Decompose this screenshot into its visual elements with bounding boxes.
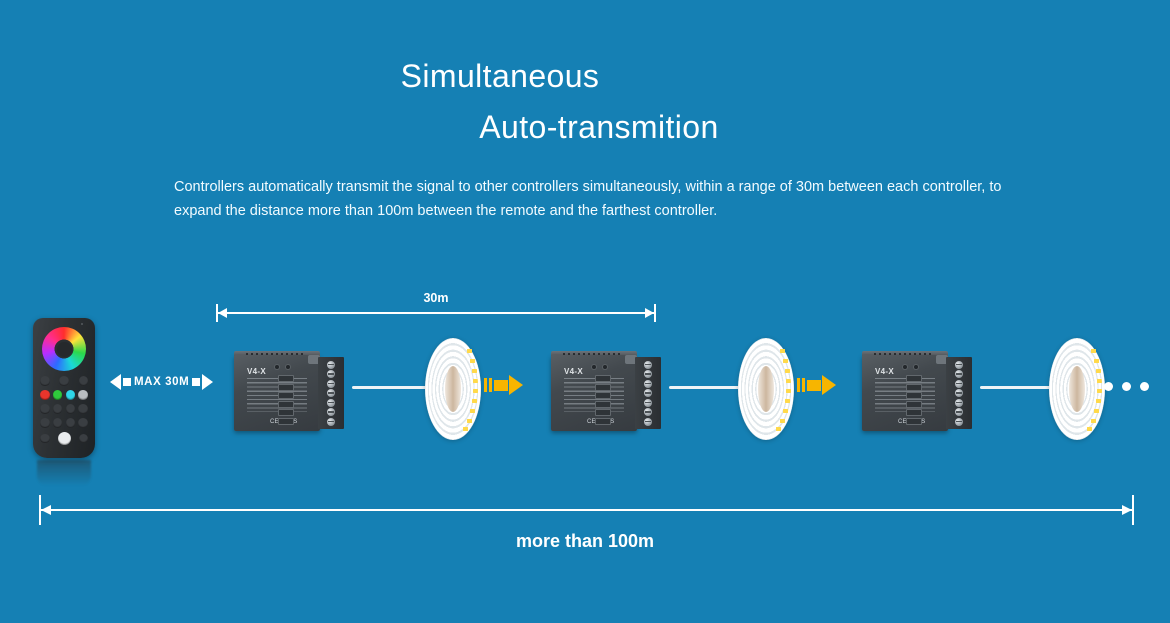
led-icon [592,365,596,369]
dip-switch [906,401,922,408]
led-chip [472,399,477,403]
dip-switch [595,401,611,408]
remote-indicator-led-icon [81,323,83,325]
dip-switch [595,375,611,382]
led-strip-reel-2 [738,338,794,440]
total-dimension-line [39,509,1134,511]
controller-terminal-block [635,357,661,429]
controller-device-2: V4-X CE RoHS [545,351,663,435]
terminal-screw [644,361,652,369]
terminal-screw [327,399,335,407]
led-strip-reel-3 [1049,338,1105,440]
dip-switch [278,409,294,416]
terminal-screw [955,370,963,378]
controller-indicator-leds [903,365,918,369]
remote-keypad [40,376,88,450]
keypad-row [40,404,88,414]
arrow-right-bar [192,378,200,386]
remote-range-label: MAX 30M [133,376,190,388]
led-chip [1097,379,1102,383]
terminal-screw [327,380,335,388]
led-chip [1094,359,1099,363]
remote-key [40,376,50,386]
controller-dip-switches [278,375,294,425]
remote-control [33,318,95,458]
arrow-left-icon [218,308,227,318]
controller-terminal-block [318,357,344,429]
controller-model-label: V4-X [247,367,266,376]
dip-switch [595,409,611,416]
remote-key [59,376,69,386]
reel-led-chips [458,345,478,433]
arrow-right-icon [1122,505,1132,515]
led-chip [780,349,785,353]
dip-switch [278,401,294,408]
arrow-tick [489,378,492,392]
terminal-screw [955,389,963,397]
led-chip [1096,369,1101,373]
remote-key [53,404,63,414]
remote-key [40,404,50,414]
remote-key [40,434,50,444]
led-chip [473,379,478,383]
arrow-tick [802,378,805,392]
arrow-left-icon [41,505,51,515]
cable-1 [352,386,436,389]
controller-spec-print [875,378,935,412]
terminal-screw [955,380,963,388]
terminal-screw [644,370,652,378]
remote-key [78,404,88,414]
controller-device-3: V4-X CE RoHS [856,351,974,435]
led-strip-reel-1 [425,338,481,440]
reel-led-chips [771,345,791,433]
led-chip [783,409,788,413]
arrow-left-bar [123,378,131,386]
arrow-right-icon [645,308,654,318]
dip-switch [906,375,922,382]
dip-switch [278,375,294,382]
remote-key-red [40,390,50,400]
controller-dip-switches [906,375,922,425]
remote-key [66,404,76,414]
remote-key-cyan [66,390,76,400]
dip-switch [595,384,611,391]
remote-key [40,418,50,428]
dimension-cap-right [1132,495,1134,525]
description-text: Controllers automatically transmit the s… [174,175,1014,223]
remote-key-power [58,432,71,445]
keypad-row [40,376,88,386]
terminal-screw [955,418,963,426]
led-chip [1096,399,1101,403]
dimension-rule [39,509,1134,511]
ellipsis-dot [1104,382,1113,391]
controller-device-1: V4-X CE RoHS [228,351,346,435]
controller-dip-switches [595,375,611,425]
led-chip [1087,427,1092,431]
terminal-screw [644,408,652,416]
led-chip [1097,389,1102,393]
dip-switch [906,409,922,416]
remote-key-green [53,390,63,400]
slide-canvas: Simultaneous Auto-transmition Controller… [0,0,1170,623]
dimension-cap-right [654,304,656,322]
remote-key [78,418,88,428]
terminal-screw [327,418,335,426]
signal-transmit-arrow-2 [797,375,836,395]
controller-terminal-block [946,357,972,429]
controller-spec-print [247,378,307,412]
controller-body: V4-X CE RoHS [551,355,637,431]
remote-key-white [78,390,88,400]
dip-switch [906,384,922,391]
controller-body: V4-X CE RoHS [862,355,948,431]
remote-key [66,418,76,428]
signal-transmit-arrow-1 [484,375,523,395]
terminal-screw [327,361,335,369]
dip-switch [906,392,922,399]
remote-range-indicator: MAX 30M [110,374,213,390]
color-wheel-center [57,342,72,357]
dip-switch [595,418,611,425]
led-chip [1094,409,1099,413]
remote-key [79,376,89,386]
page-title-line1: Simultaneous [0,58,1085,95]
led-chip [472,369,477,373]
ellipsis-dot [1140,382,1149,391]
arrow-right-icon [202,374,213,390]
led-chip [780,419,785,423]
dip-switch [278,392,294,399]
led-icon [286,365,290,369]
led-chip [1091,349,1096,353]
led-chip [786,389,791,393]
led-chip [470,359,475,363]
led-chip [463,427,468,431]
remote-key [53,418,63,428]
led-icon [275,365,279,369]
terminal-screw [955,408,963,416]
keypad-row [40,418,88,428]
led-icon [903,365,907,369]
led-chip [776,427,781,431]
dip-switch [278,418,294,425]
total-distance-label: more than 100m [0,531,1170,552]
keypad-row-colors [40,390,88,400]
controller-spec-print [564,378,624,412]
controller-model-label: V4-X [875,367,894,376]
arrow-tick [484,378,487,392]
arrow-tick [797,378,800,392]
color-wheel-icon [42,327,86,371]
led-icon [603,365,607,369]
terminal-screw [327,389,335,397]
led-chip [785,399,790,403]
led-chip [470,409,475,413]
ellipsis-dot [1122,382,1131,391]
reel-led-chips [1082,345,1102,433]
led-chip [786,379,791,383]
terminal-screw [955,361,963,369]
controller-indicator-leds [275,365,290,369]
dimension-rule [216,312,656,314]
led-chip [1091,419,1096,423]
dip-switch [278,384,294,391]
controller-body: V4-X CE RoHS [234,355,320,431]
arrow-shaft [494,380,508,391]
arrow-shaft [807,380,821,391]
terminal-screw [327,370,335,378]
led-icon [914,365,918,369]
terminal-screw [644,418,652,426]
arrow-right-icon [509,375,523,395]
keypad-row-bottom [40,432,88,445]
dip-switch [906,418,922,425]
led-chip [473,389,478,393]
terminal-screw [644,380,652,388]
arrow-right-icon [822,375,836,395]
terminal-screw [644,399,652,407]
terminal-screw [644,389,652,397]
page-title-line2: Auto-transmition [14,109,1170,146]
led-chip [783,359,788,363]
terminal-screw [955,399,963,407]
segment-distance-label: 30m [216,291,656,305]
led-chip [785,369,790,373]
controller-indicator-leds [592,365,607,369]
led-chip [467,419,472,423]
led-chip [467,349,472,353]
controller-model-label: V4-X [564,367,583,376]
arrow-left-icon [110,374,121,390]
dip-switch [595,392,611,399]
segment-dimension-line [216,312,656,314]
remote-reflection [37,460,91,486]
remote-key [79,434,89,444]
terminal-screw [327,408,335,416]
continuation-ellipsis [1104,382,1149,391]
